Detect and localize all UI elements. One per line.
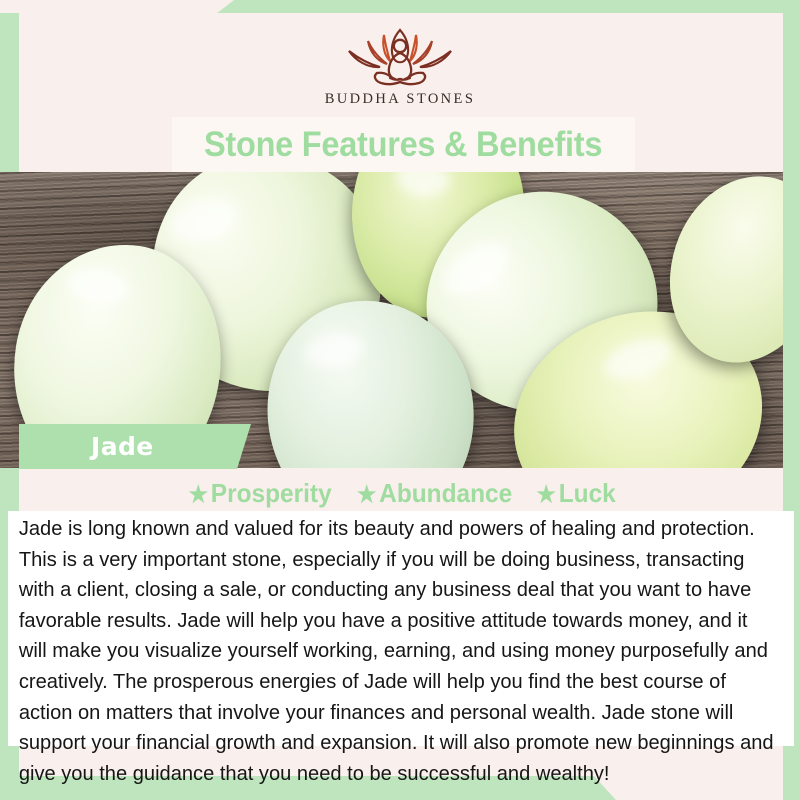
brand-wordmark: BUDDHA STONES — [0, 91, 800, 108]
benefit-item-luck: ★Luck — [537, 478, 616, 509]
infographic-page: BUDDHA STONES Stone Features & Benefits … — [0, 0, 800, 800]
benefit-item-prosperity: ★Prosperity — [188, 478, 331, 509]
stone-name-label: Jade — [19, 424, 251, 469]
description-text: Jade is long known and valued for its be… — [8, 514, 782, 789]
benefit-label: Prosperity — [210, 478, 331, 508]
star-icon: ★ — [357, 481, 376, 507]
page-title: Stone Features & Benefits — [204, 125, 602, 165]
benefit-label: Abundance — [380, 478, 513, 508]
star-icon: ★ — [188, 481, 207, 507]
stone-photo — [0, 172, 783, 468]
description-panel: Jade is long known and valued for its be… — [8, 511, 794, 746]
title-banner: Stone Features & Benefits — [172, 117, 635, 172]
brand-logo-block: BUDDHA STONES — [0, 22, 800, 108]
stone-name-text: Jade — [91, 432, 154, 461]
lotus-meditation-icon — [335, 22, 465, 88]
content-card: ★Prosperity ★Abundance ★Luck Jade is lon… — [19, 468, 783, 776]
benefit-label: Luck — [559, 478, 616, 508]
benefit-item-abundance: ★Abundance — [357, 478, 512, 509]
benefits-row: ★Prosperity ★Abundance ★Luck — [19, 478, 783, 509]
star-icon: ★ — [537, 481, 556, 507]
